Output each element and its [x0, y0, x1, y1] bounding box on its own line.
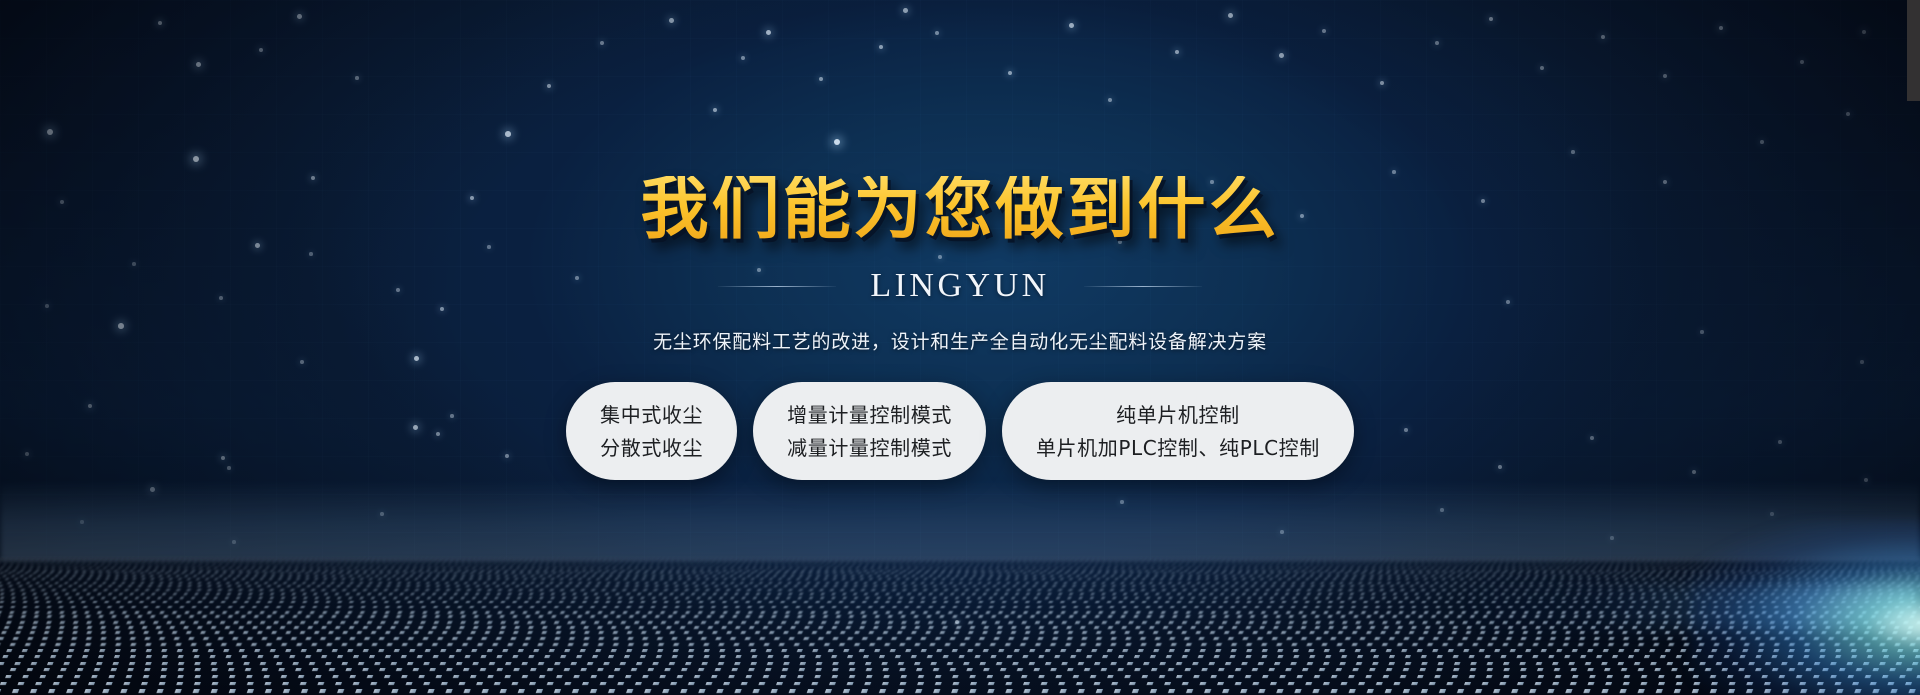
hero-banner: 我们能为您做到什么 LINGYUN 无尘环保配料工艺的改进，设计和生产全自动化无… — [0, 0, 1920, 695]
divider-right — [1084, 286, 1202, 287]
card-line-1: 集中式收尘 — [600, 404, 703, 426]
feature-card-metering-mode[interactable]: 增量计量控制模式 减量计量控制模式 — [753, 382, 986, 480]
card-line-2: 减量计量控制模式 — [787, 437, 952, 459]
banner-description: 无尘环保配料工艺的改进，设计和生产全自动化无尘配料设备解决方案 — [653, 327, 1267, 354]
brand-name: LINGYUN — [870, 267, 1049, 305]
feature-card-dust-collection[interactable]: 集中式收尘 分散式收尘 — [566, 382, 737, 480]
card-line-2: 单片机加PLC控制、纯PLC控制 — [1036, 437, 1320, 459]
feature-card-control-system[interactable]: 纯单片机控制 单片机加PLC控制、纯PLC控制 — [1002, 382, 1354, 480]
card-line-2: 分散式收尘 — [600, 437, 703, 459]
scrollbar-remnant[interactable] — [1907, 0, 1920, 101]
brand-row: LINGYUN — [718, 267, 1201, 305]
page-title: 我们能为您做到什么 — [640, 176, 1279, 244]
feature-card-list: 集中式收尘 分散式收尘 增量计量控制模式 减量计量控制模式 纯单片机控制 单片机… — [566, 382, 1354, 480]
divider-left — [718, 286, 836, 287]
banner-content: 我们能为您做到什么 LINGYUN 无尘环保配料工艺的改进，设计和生产全自动化无… — [0, 0, 1920, 695]
card-line-1: 纯单片机控制 — [1116, 404, 1240, 426]
card-line-1: 增量计量控制模式 — [787, 404, 952, 426]
